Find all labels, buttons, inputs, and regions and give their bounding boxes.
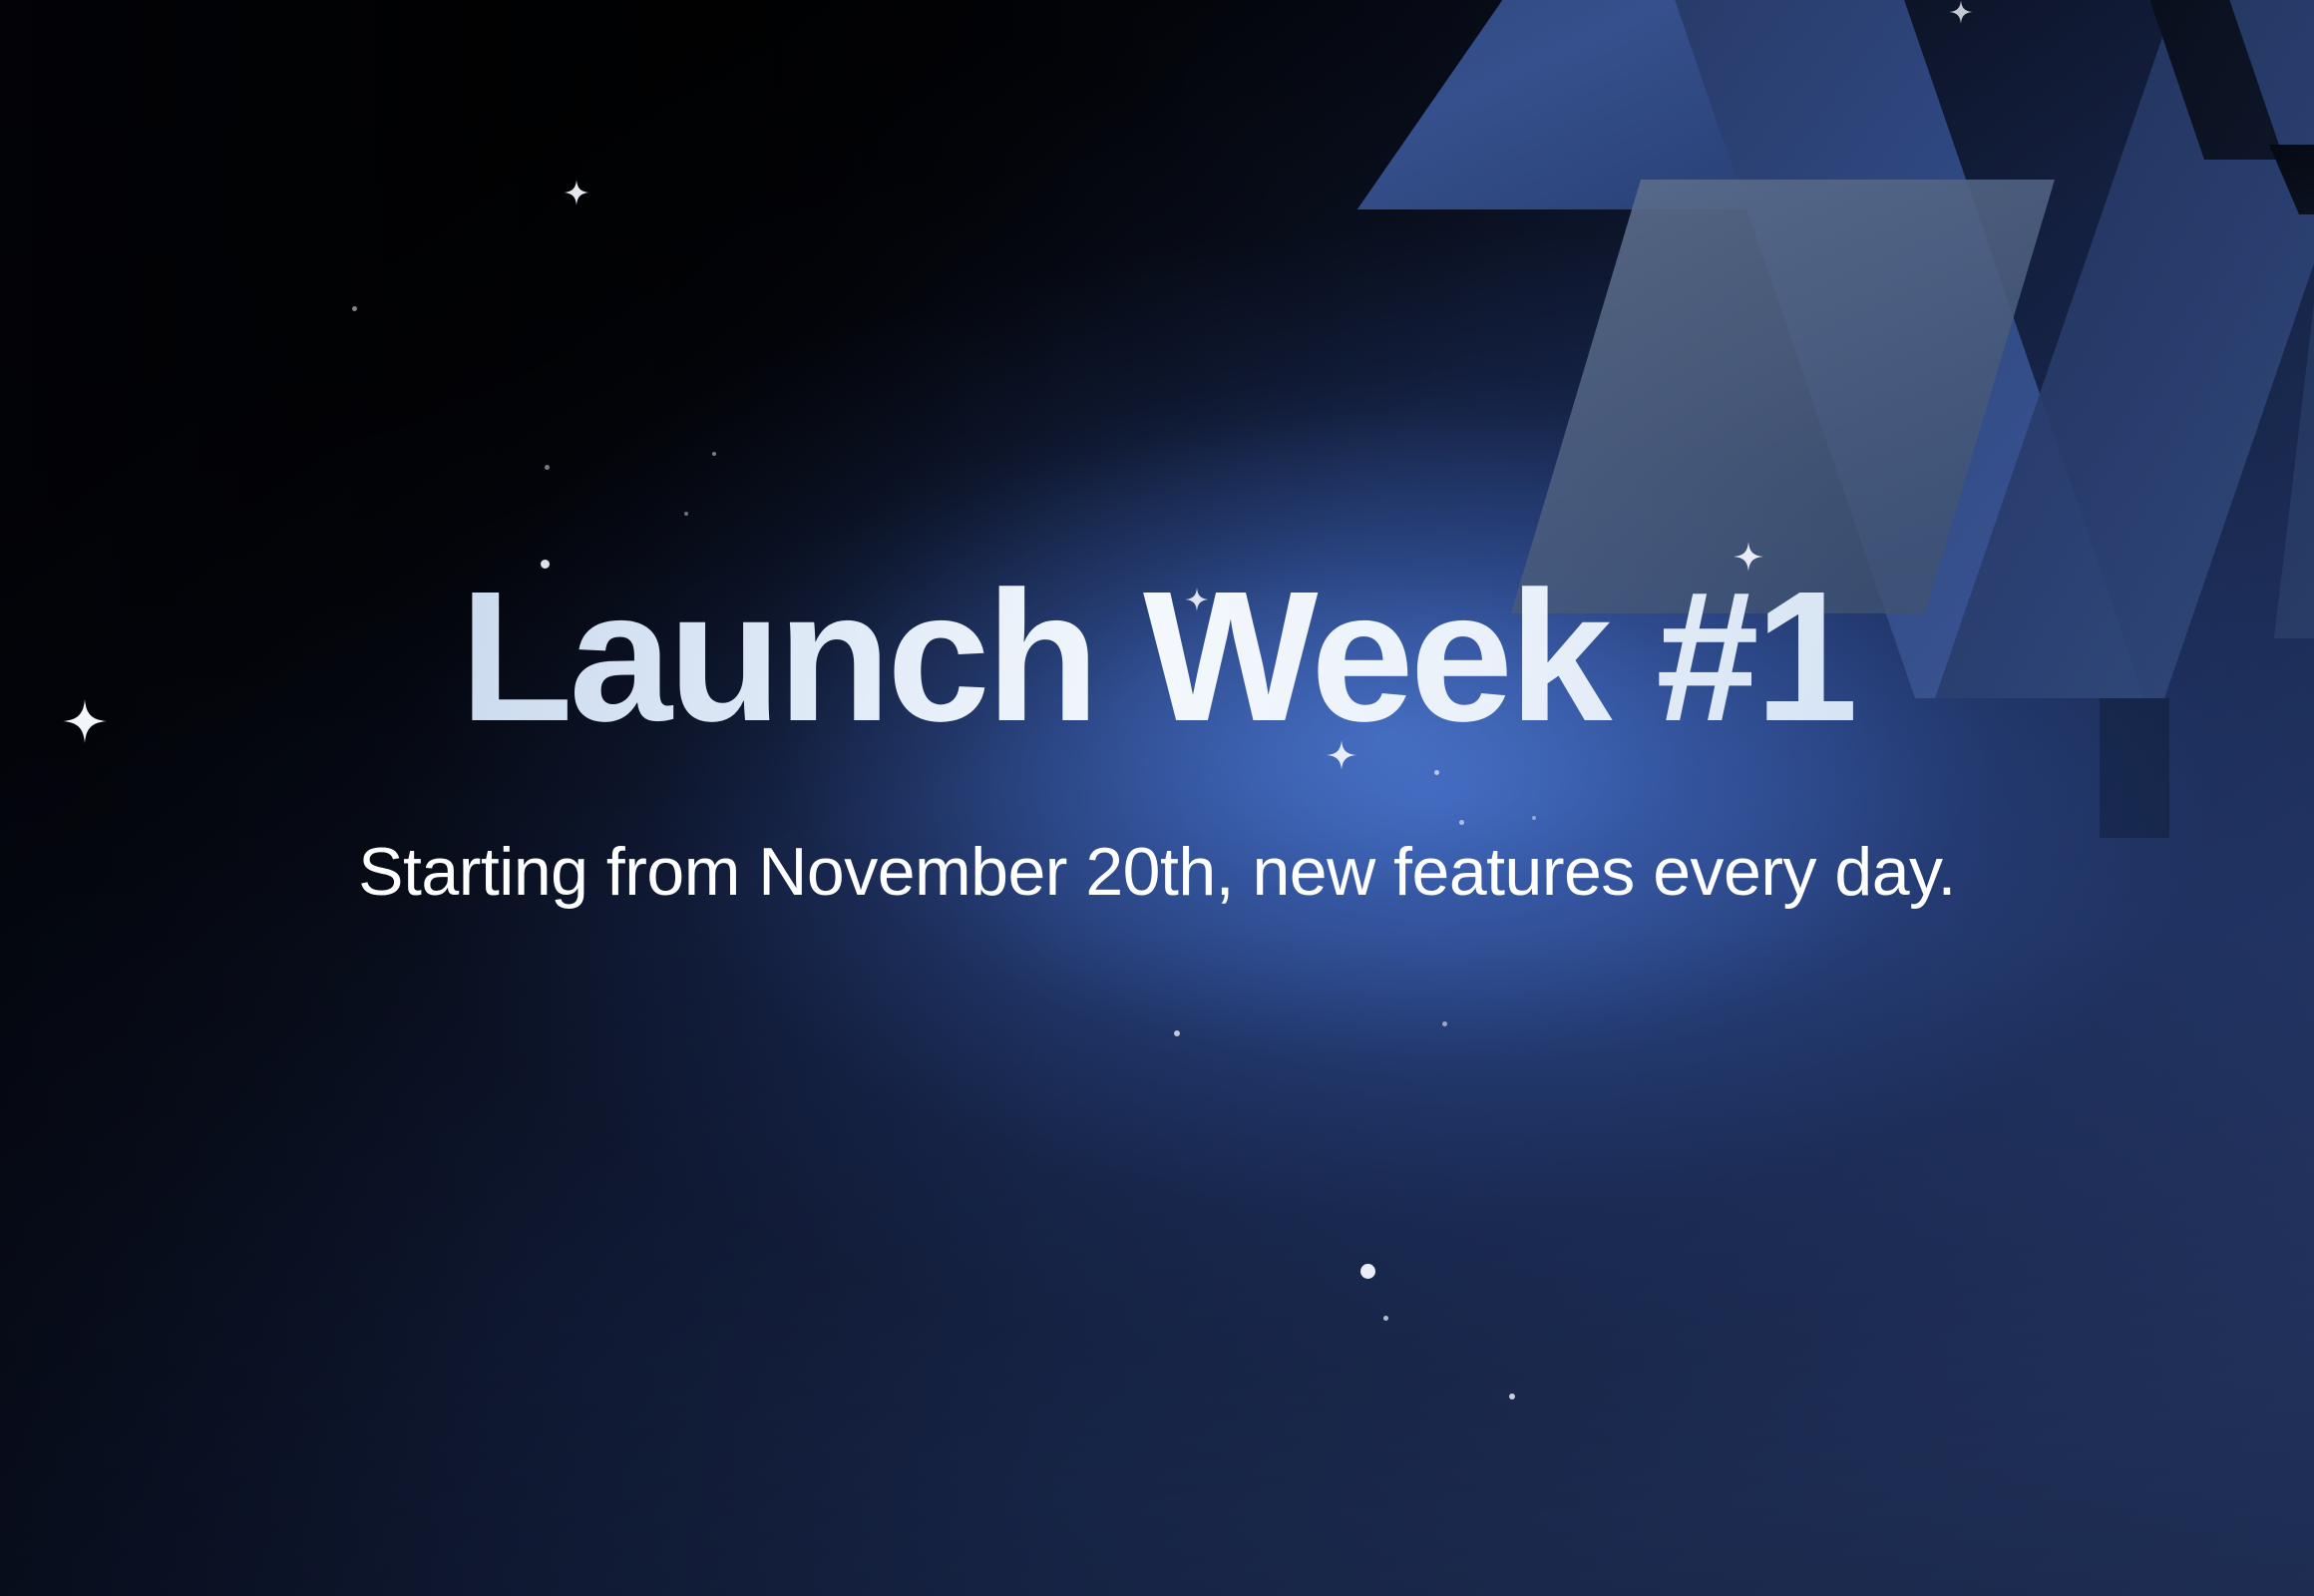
hero-content: Launch Week #1 Starting from November 20… bbox=[0, 0, 2314, 1596]
launch-week-hero: Launch Week #1 Starting from November 20… bbox=[0, 0, 2314, 1596]
page-subtitle: Starting from November 20th, new feature… bbox=[0, 834, 2314, 910]
page-title: Launch Week #1 bbox=[0, 565, 2314, 750]
